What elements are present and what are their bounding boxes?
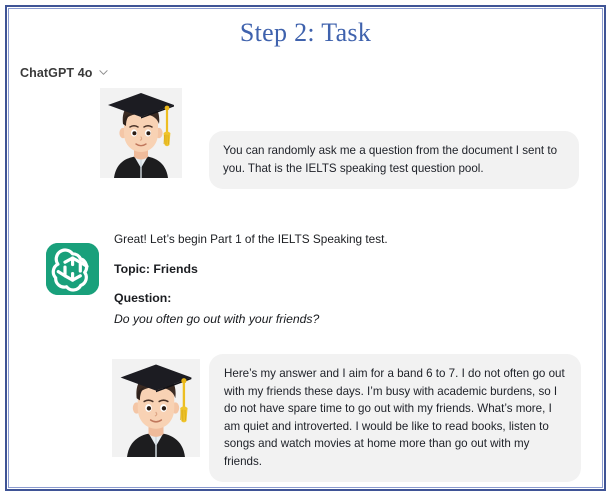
chevron-down-icon[interactable]: [99, 68, 108, 77]
user-message-bubble: You can randomly ask me a question from …: [209, 131, 579, 189]
model-selector-label: ChatGPT 4o: [20, 66, 93, 80]
model-selector[interactable]: ChatGPT 4o: [20, 66, 108, 80]
graduate-student-avatar: [100, 88, 182, 178]
user-message-bubble: Here’s my answer and I aim for a band 6 …: [209, 354, 581, 482]
chatgpt-logo-icon: [46, 243, 99, 295]
assistant-question-heading: Question:: [114, 290, 534, 306]
user-message-text: Here’s my answer and I aim for a band 6 …: [224, 365, 567, 470]
user-message-text: You can randomly ask me a question from …: [223, 142, 565, 177]
assistant-topic-heading: Topic: Friends: [114, 261, 534, 277]
slide-content-area: Step 2: Task ChatGPT 4o: [9, 9, 602, 487]
assistant-question-text: Do you often go out with your friends?: [114, 311, 534, 327]
graduate-student-avatar: [112, 359, 200, 457]
assistant-message: Great! Let’s begin Part 1 of the IELTS S…: [114, 231, 534, 327]
assistant-intro-text: Great! Let’s begin Part 1 of the IELTS S…: [114, 231, 534, 247]
page-title: Step 2: Task: [9, 18, 602, 48]
